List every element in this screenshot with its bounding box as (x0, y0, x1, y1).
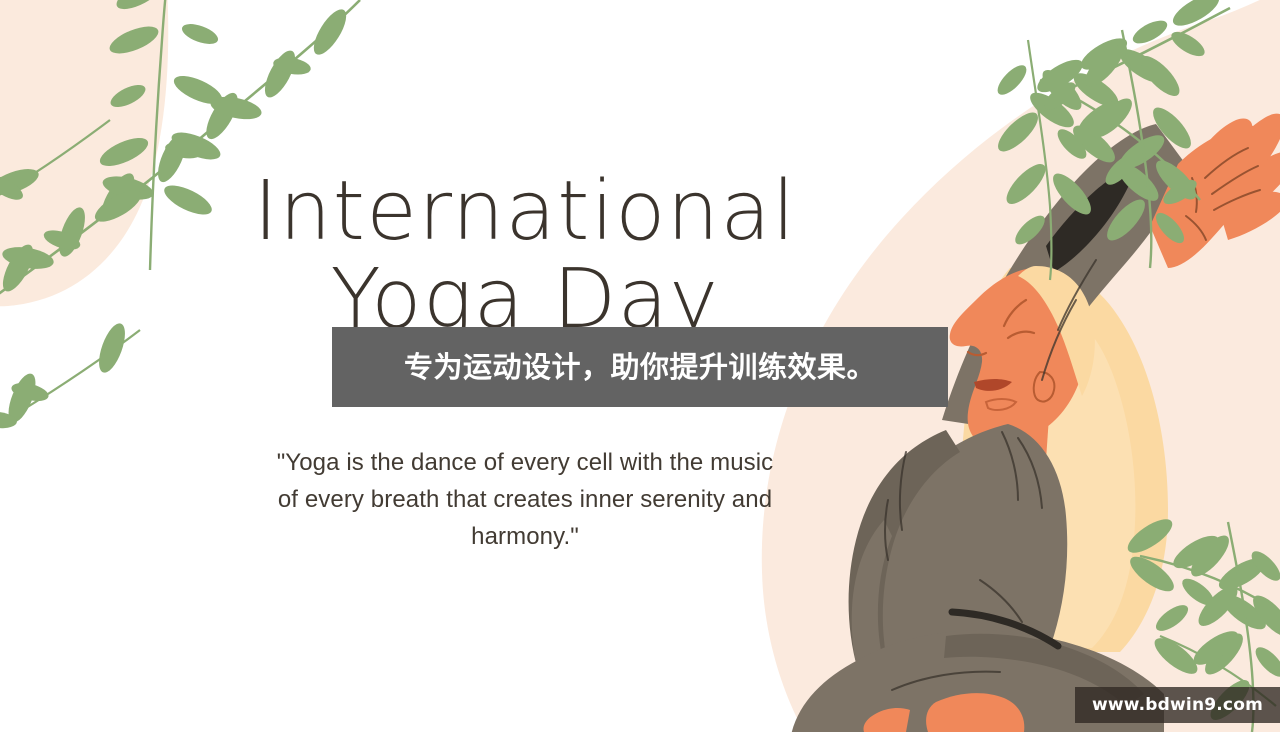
branch-top-left-main (0, 0, 360, 300)
yoga-quote: "Yoga is the dance of every cell with th… (272, 444, 778, 555)
caption-text: 专为运动设计，助你提升训练效果。 (404, 353, 876, 382)
watermark-url: www.bdwin9.com (1092, 697, 1263, 714)
branch-left-stray (0, 120, 110, 204)
caption-overlay-bar: 专为运动设计，助你提升训练效果。 (332, 327, 948, 407)
yoga-day-banner: International Yoga Day "Yoga is the danc… (0, 0, 1280, 732)
watermark-badge: www.bdwin9.com (1075, 687, 1280, 723)
branch-top-left-lower (0, 320, 140, 430)
